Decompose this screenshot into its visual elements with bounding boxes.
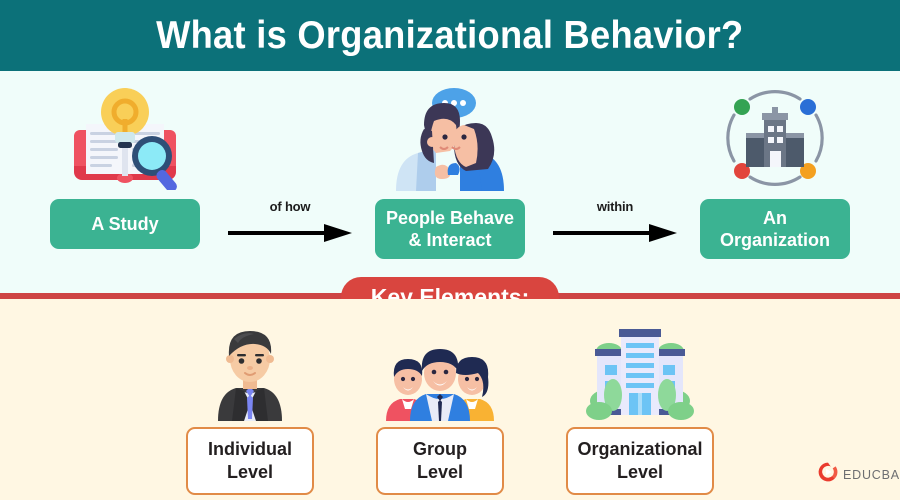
key-element-line: Level (192, 461, 308, 484)
connector-label: within (540, 199, 690, 214)
arrow-right-icon (553, 223, 677, 243)
connector-of-how: of how (215, 199, 365, 259)
infographic-poster: What is Organizational Behavior? (0, 0, 900, 500)
definition-section: A Study of how (0, 71, 900, 296)
key-element-individual-level: Individual Level (186, 321, 314, 495)
key-element-box-organizational-level: Organizational Level (566, 427, 714, 495)
definition-box-line: A Study (91, 213, 158, 235)
definition-box-an-organization: An Organization (700, 199, 850, 259)
key-element-line: Individual (192, 438, 308, 461)
educba-logo-icon (818, 462, 838, 487)
two-people-conversation-icon (375, 83, 525, 193)
arrow-right-icon (228, 223, 352, 243)
definition-flow: A Study of how (0, 71, 900, 296)
key-element-line: Organizational (572, 438, 708, 461)
book-lightbulb-magnifier-icon (50, 83, 200, 193)
definition-node-people-behave: People Behave & Interact (375, 83, 525, 259)
definition-box-a-study: A Study (50, 199, 200, 249)
connector-label: of how (215, 199, 365, 214)
key-element-line: Group (382, 438, 498, 461)
brand-name: EDUCBA (843, 468, 900, 482)
definition-box-line: & Interact (386, 229, 514, 251)
key-element-organizational-level: Organizational Level (566, 321, 714, 495)
key-element-line: Level (572, 461, 708, 484)
key-elements-section: Individual Level (0, 299, 900, 500)
definition-box-people-behave: People Behave & Interact (375, 199, 525, 259)
definition-node-a-study: A Study (50, 83, 200, 249)
brand-logo: EDUCBA (818, 462, 900, 487)
office-building-icon (566, 321, 714, 421)
definition-box-line: An (720, 207, 830, 229)
key-element-box-group-level: Group Level (376, 427, 504, 495)
connector-within: within (540, 199, 690, 259)
definition-box-line: People Behave (386, 207, 514, 229)
key-element-group-level: Group Level (376, 321, 504, 495)
poster-header: What is Organizational Behavior? (0, 0, 900, 71)
group-of-people-icon (376, 321, 504, 421)
key-element-line: Level (382, 461, 498, 484)
definition-node-an-organization: An Organization (700, 83, 850, 259)
building-network-circle-icon (700, 83, 850, 193)
businessman-icon (186, 321, 314, 421)
page-title: What is Organizational Behavior? (156, 14, 743, 58)
key-element-box-individual-level: Individual Level (186, 427, 314, 495)
definition-box-line: Organization (720, 229, 830, 251)
